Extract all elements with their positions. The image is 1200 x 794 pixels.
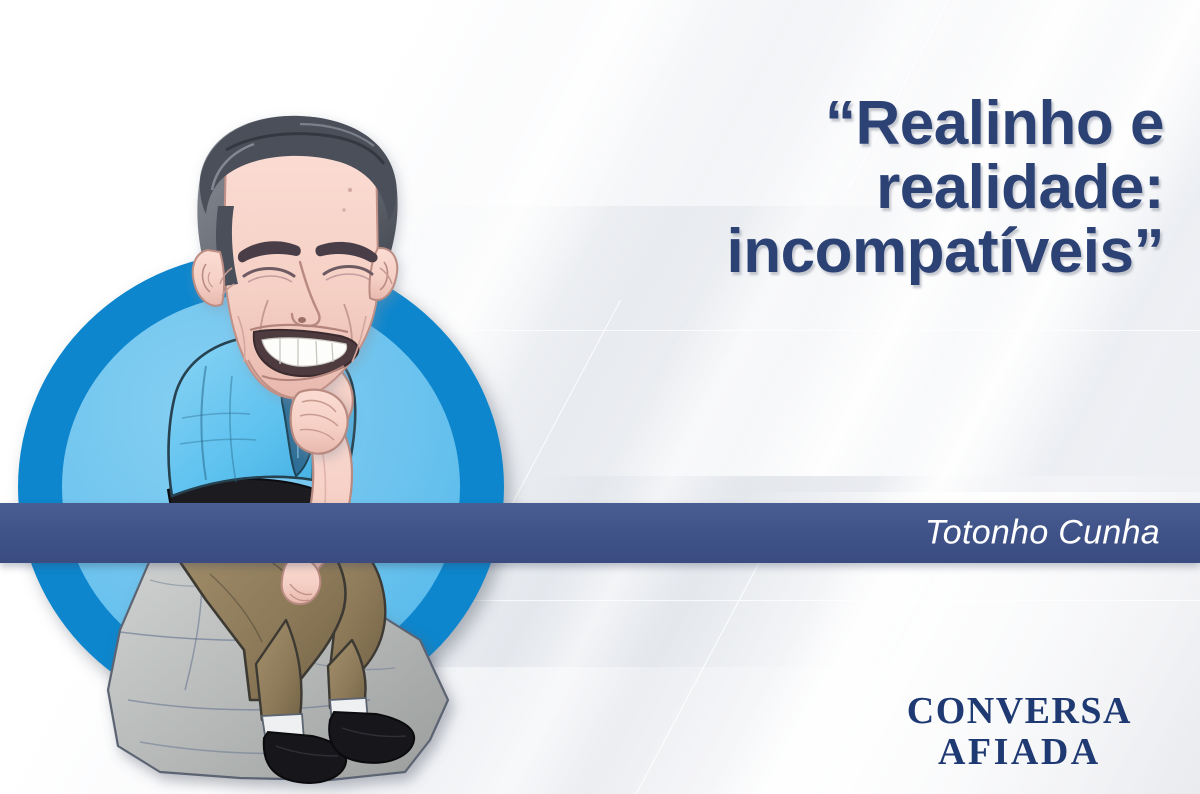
headline-quote: “Realinho e realidade: incompatíveis” [444, 92, 1164, 284]
logo-line-afiada: AFIADA [907, 732, 1132, 772]
author-name: Totonho Cunha [925, 514, 1160, 553]
author-ribbon: Totonho Cunha [0, 503, 1200, 563]
circle-badge-inner [62, 294, 461, 679]
banner-canvas: Totonho Cunha “Realinho e realidade: inc… [0, 0, 1200, 794]
circle-badge [18, 252, 504, 722]
logo-line-conversa: CONVERSA [907, 691, 1132, 731]
site-logo[interactable]: CONVERSA AFIADA [907, 691, 1132, 772]
